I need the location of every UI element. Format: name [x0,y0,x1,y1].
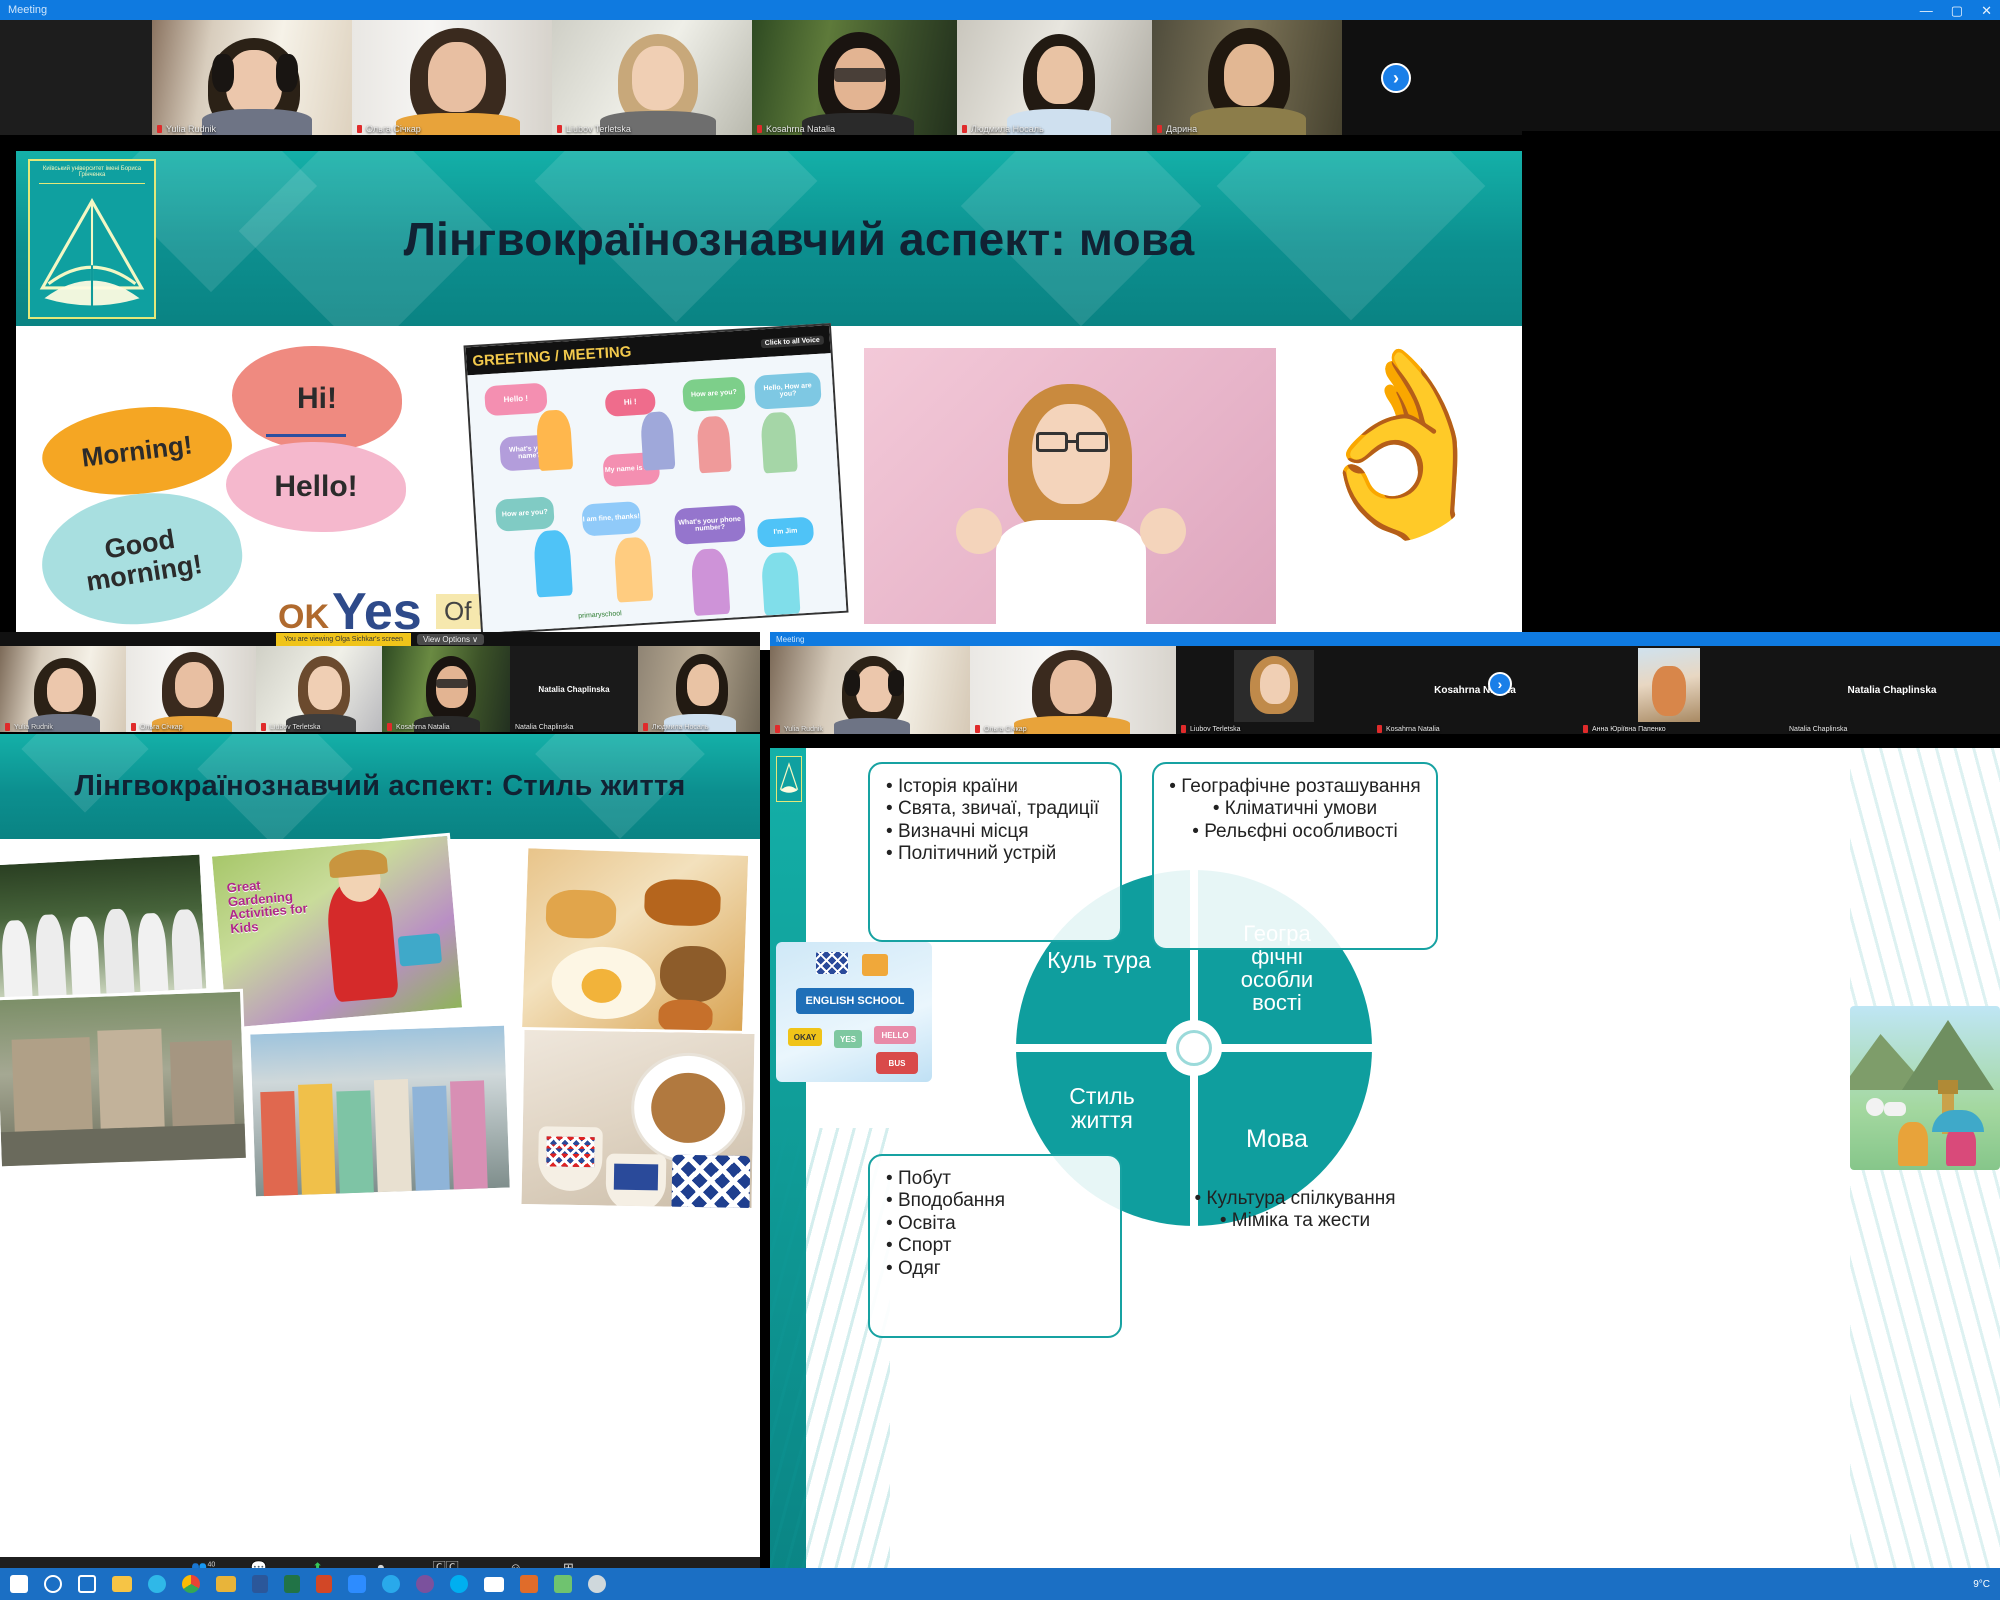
window-titlebar: Meeting — ▢ ✕ [0,0,2000,20]
slide-logo-mini [776,756,802,802]
minimize-button[interactable]: — [1920,4,1933,17]
edge-icon[interactable] [148,1575,166,1593]
video-tile[interactable]: Анна Юріївна Папенко [1578,646,1784,734]
tile-name: Дарина [1152,123,1202,135]
tile-center-name: Kosahrna Natalia [1372,646,1578,734]
powerpoint-icon[interactable] [316,1575,332,1593]
mute-icon [157,125,162,133]
logo-emblem [30,184,154,317]
tile-name: Yulia Rudnik [770,724,828,734]
landscape-illustration [1850,1006,2000,1170]
video-tile[interactable]: Liubov Terletska [552,20,752,135]
slide-body: Hi! Morning! Hello! Good morning! OK Yes… [16,326,1522,650]
window-titlebar: Meeting [770,632,2000,646]
video-tile[interactable]: Liubov Terletska [256,646,382,732]
callout-geography: Географічне розташування Кліматичні умов… [1152,762,1438,950]
zoom-icon[interactable] [348,1575,366,1593]
start-button-icon[interactable] [10,1575,28,1593]
tile-name: Liubov Terletska [552,123,636,135]
callout-item: Вподобання [884,1190,1112,1212]
poster-kid [760,411,798,473]
callout-item: Культура спілкування [1166,1188,1424,1210]
mute-icon [557,125,562,133]
poster-kid [614,537,654,603]
quadrant-label-language: Мова [1222,1126,1332,1152]
photo-colourful-houses [247,1023,513,1200]
video-tile[interactable]: Liubov Terletska [1176,646,1372,734]
slide-header: Київський університет імені Бориса Грінч… [16,151,1522,326]
mail-icon[interactable] [484,1577,504,1592]
mute-icon [975,725,980,733]
mute-icon [643,723,648,731]
english-school-badge: ENGLISH SCHOOL [796,988,914,1014]
photo-village [0,989,249,1170]
bubble-hello: Hello! [226,442,406,532]
close-button[interactable]: ✕ [1981,4,1992,17]
callout-item: Свята, звичаї, традиції [884,798,1112,820]
maximize-button[interactable]: ▢ [1951,4,1963,17]
mute-icon [131,723,136,731]
video-tile[interactable]: Yulia Rudnik [770,646,970,734]
tile-name: Kosahrna Natalia [382,722,455,732]
gardening-caption: Great Gardening Activities for Kids [226,873,322,935]
video-tile[interactable]: Yulia Rudnik [152,20,352,135]
poster-footer: primaryschool [578,610,622,620]
top-panel-right-gutter [1522,131,2000,630]
tile-name: Kosahrna Natalia [1372,724,1445,734]
shared-slide-3: Куль тура Геогра фічні особли вості Стил… [770,748,2000,1600]
poster-bubble: Hello, How are you? [754,372,822,410]
tile-name: Kosahrna Natalia [752,123,840,135]
callout-item: Історія країни [884,776,1112,798]
tile-center-name: Natalia Chaplinska [510,646,638,732]
poster-bubble: What's your phone number? [674,505,746,545]
mute-icon [387,723,392,731]
mute-icon [962,125,967,133]
callout-item: Географічне розташування [1168,776,1422,798]
video-tile[interactable]: Kosahrna Natalia [382,646,510,732]
windows-taskbar: 9°C [0,1568,2000,1600]
video-tile[interactable]: Kosahrna Natalia [752,20,957,135]
tile-name: Людмила Носаль [957,123,1049,135]
viber-icon[interactable] [416,1575,434,1593]
video-tile[interactable]: Дарина [1152,20,1342,135]
school-word: OKAY [788,1028,822,1046]
poster-hint: Click to all Voice [761,335,825,348]
tile-name: Ольга Січкар [970,724,1032,734]
poster-kid [696,415,731,473]
video-tile-no-video[interactable]: Kosahrna Natalia Kosahrna Natalia [1372,646,1578,734]
photo-english-breakfast [519,845,752,1045]
excel-icon[interactable] [284,1575,300,1593]
video-tile[interactable]: Людмила Носаль [638,646,760,732]
tile-name: Liubov Terletska [1176,724,1245,734]
callout-item: Освіта [884,1213,1112,1235]
panel-meeting-bottom-left: You are viewing Olga Sichkar's screen Vi… [0,632,760,1600]
tile-name: Natalia Chaplinska [1784,725,1852,734]
bubble-morning: Morning! [37,397,236,506]
video-tile[interactable]: Людмила Носаль [957,20,1152,135]
panel-meeting-top: Meeting — ▢ ✕ Yulia Rudnik [0,0,2000,630]
mute-icon [1181,725,1186,733]
mute-icon [1377,725,1382,733]
callout-item: Спорт [884,1235,1112,1257]
logo-text: Київський університет імені Бориса Грінч… [39,161,146,184]
school-word: YES [834,1030,862,1048]
word-icon[interactable] [252,1575,268,1593]
bubble-good-morning: Good morning! [33,479,251,639]
wheel-center-circle [1176,1030,1212,1066]
slide-title: Лінгвокраїнознавчий аспект: мова [16,212,1522,266]
window-title: Meeting [776,635,804,644]
participant-filmstrip: Yulia Rudnik Ольга Січкар Liubov Terlets… [770,646,2000,734]
poster-kid [640,411,675,471]
quadrant-label-culture: Куль тура [1044,948,1154,972]
shared-slide-2: Лінгвокраїнознавчий аспект: Стиль життя … [0,734,760,1600]
video-tile[interactable]: Ольга Січкар [970,646,1176,734]
mute-icon [5,723,10,731]
tile-center-name: Natalia Chaplinska [1784,646,2000,734]
callout-item: Кліматичні умови [1168,798,1422,820]
callout-language: Культура спілкування Міміка та жести [1152,1154,1438,1338]
photos-icon[interactable] [554,1575,572,1593]
tile-name: Natalia Chaplinska [510,723,578,732]
search-icon[interactable] [44,1575,62,1593]
school-word: HELLO [874,1026,916,1044]
tile-name: Ольга Січкар [352,123,426,135]
mute-icon [757,125,762,133]
bubble-hi-underline [266,434,346,437]
explorer-icon[interactable] [112,1576,132,1592]
chrome-icon[interactable] [182,1575,200,1593]
greeting-poster: GREETING / MEETING Click to all Voice He… [463,323,848,635]
mute-icon [1157,125,1162,133]
participant-filmstrip: Yulia Rudnik Ольга Січкар Liubov Terlets… [0,646,760,732]
participant-filmstrip: Yulia Rudnik Ольга Січкар Liubov Terlets… [0,20,2000,135]
screen-share-notice: You are viewing Olga Sichkar's screen [276,633,411,646]
girl-photo [864,348,1276,624]
shared-slide-1: Київський університет імені Бориса Грінч… [16,151,1522,650]
quadrant-label-lifestyle: Стиль життя [1044,1084,1160,1132]
tile-name: Yulia Rudnik [0,722,58,732]
poster-bubble: I'm Jim [757,517,815,548]
next-page-arrow[interactable]: › [1381,63,1411,93]
callout-culture: Історія країни Свята, звичаї, традиції В… [868,762,1122,942]
ok-hand-emoji: 👌 [1290,354,1514,534]
poster-bubble: How are you? [682,376,746,412]
university-logo: Київський університет імені Бориса Грінч… [28,159,156,319]
video-tile[interactable]: Ольга Січкар [352,20,552,135]
task-view-icon[interactable] [78,1575,96,1593]
callout-lifestyle: Побут Вподобання Освіта Спорт Одяг [868,1154,1122,1338]
poster-kid [536,409,574,471]
callout-item: Визначні місця [884,821,1112,843]
skype-icon[interactable] [450,1575,468,1593]
screen-share-notice-bar: You are viewing Olga Sichkar's screen Vi… [0,632,760,646]
callout-item: Міміка та жести [1166,1210,1424,1232]
view-options-button[interactable]: View Options ∨ [417,634,484,645]
panel-meeting-bottom-right: Meeting Yulia Rudnik Ольга Січкар [770,632,2000,1600]
poster-bubble: I am fine, thanks! [581,501,641,536]
telegram-icon[interactable] [382,1575,400,1593]
tile-name: Liubov Terletska [256,722,325,732]
video-tile[interactable]: Ольга Січкар [126,646,256,732]
video-tile-no-video[interactable]: Natalia Chaplinska Natalia Chaplinska [1784,646,2000,734]
callout-item: Одяг [884,1258,1112,1280]
folder-icon[interactable] [216,1576,236,1592]
video-tile-no-video[interactable]: Natalia Chaplinska Natalia Chaplinska [510,646,638,732]
poster-bubble: How are you? [495,496,555,531]
callout-item: Побут [884,1168,1112,1190]
mute-icon [357,125,362,133]
poster-kid [533,529,573,597]
school-word: BUS [876,1052,918,1074]
photo-schoolchildren [0,851,210,1002]
tile-name: Ольга Січкар [126,722,188,732]
callout-item: Політичний устрій [884,843,1112,865]
poster-kid [761,552,801,616]
video-tile[interactable]: Yulia Rudnik [0,646,126,732]
mute-icon [775,725,780,733]
filmstrip-remainder [1342,20,2000,135]
tile-name: Yulia Rudnik [152,123,221,135]
callout-item: Рельєфні особливості [1168,821,1422,843]
video-tile[interactable] [0,20,152,135]
tile-name: Анна Юріївна Папенко [1578,724,1671,734]
settings-icon[interactable] [588,1575,606,1593]
poster-bubble: Hello ! [484,383,548,417]
slide-header: Лінгвокраїнознавчий аспект: Стиль життя [0,734,760,839]
mute-icon [261,723,266,731]
english-school-illustration: ENGLISH SCHOOL OKAY YES HELLO BUS [776,942,932,1082]
slide-title: Лінгвокраїнознавчий аспект: Стиль життя [0,770,760,802]
next-page-arrow[interactable]: › [1488,672,1512,696]
window-title: Meeting [8,4,47,16]
slide-decor-curves-right [1850,748,2000,1600]
weather-indicator[interactable]: 9°C [1973,1579,1990,1590]
tile-name: Людмила Носаль [638,722,714,732]
media-player-icon[interactable] [520,1575,538,1593]
poster-kid [690,548,730,616]
slide-body: Great Gardening Activities for Kids [0,839,760,1309]
photo-gardening: Great Gardening Activities for Kids [209,833,466,1031]
mute-icon [1583,725,1588,733]
photo-tea-cupcakes [518,1027,757,1211]
